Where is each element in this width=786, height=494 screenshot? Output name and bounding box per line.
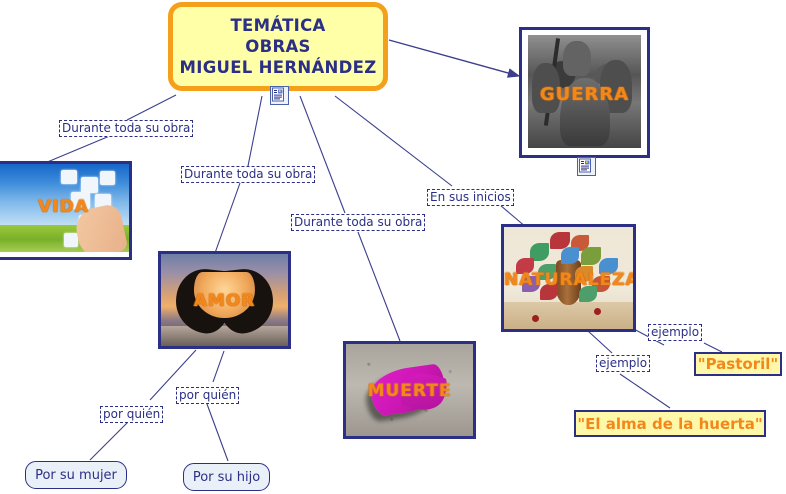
example-box-huerta[interactable]: "El alma de la huerta" — [574, 410, 766, 437]
tree-leaf — [561, 247, 579, 263]
document-note-icon[interactable] — [270, 86, 289, 105]
edge-label-por-quien-mujer[interactable]: por quién — [100, 406, 163, 423]
topic-label-amor: AMOR — [161, 291, 288, 311]
edge-root-guerra — [389, 40, 519, 76]
topic-label-naturaleza: NATURALEZA — [504, 270, 633, 290]
naturaleza-image: NATURALEZA — [504, 227, 633, 329]
fallen-fruit — [594, 308, 601, 315]
vida-bottom-strip — [0, 252, 129, 257]
edge-label-muerte[interactable]: Durante toda su obra — [291, 214, 425, 231]
topic-node-naturaleza[interactable]: NATURALEZA — [501, 224, 636, 332]
example-label-pastoril: "Pastoril" — [698, 355, 778, 373]
edge-root-naturaleza — [335, 96, 452, 186]
topic-node-muerte[interactable]: MUERTE — [343, 341, 476, 439]
edge-huerta-label-node — [620, 374, 670, 408]
root-title-line-3: MIGUEL HERNÁNDEZ — [180, 57, 377, 78]
document-note-glyph — [271, 87, 286, 102]
tree-leaf — [581, 247, 600, 264]
edge-pastoril-label-node — [704, 343, 722, 352]
document-note-icon[interactable] — [577, 157, 596, 176]
root-title-line-2: OBRAS — [180, 36, 377, 57]
topic-label-muerte: MUERTE — [346, 381, 473, 401]
mindmap-canvas: TEMÁTICA OBRAS MIGUEL HERNÁNDEZ — [0, 0, 786, 494]
document-note-glyph — [578, 158, 593, 173]
soldier — [563, 41, 591, 76]
leaf-box-por-su-mujer[interactable]: Por su mujer — [25, 461, 127, 489]
vida-image: VIDA — [0, 164, 129, 257]
edge-vida-label-node — [45, 135, 112, 163]
nat-ground — [504, 302, 633, 329]
edge-root-vida — [127, 95, 176, 120]
leaf-label-por-su-hijo: Por su hijo — [193, 470, 260, 485]
edge-label-guerra[interactable]: En sus inicios — [427, 189, 514, 206]
example-box-pastoril[interactable]: "Pastoril" — [694, 352, 782, 376]
puzzle-piece — [100, 171, 114, 185]
puzzle-piece — [61, 170, 77, 184]
muerte-image: MUERTE — [346, 344, 473, 436]
edge-amor-hijo — [213, 351, 224, 382]
topic-node-amor[interactable]: AMOR — [158, 251, 291, 349]
puzzle-piece — [64, 233, 78, 247]
edge-label-vida[interactable]: Durante toda su obra — [59, 120, 193, 137]
puzzle-piece — [81, 177, 98, 193]
edge-naturaleza-huerta — [588, 331, 612, 353]
topic-node-vida[interactable]: VIDA — [0, 161, 132, 260]
edge-amor-label-node — [215, 183, 240, 253]
root-title-line-1: TEMÁTICA — [180, 15, 377, 36]
edge-mujer-label-node — [90, 422, 128, 460]
topic-label-vida: VIDA — [0, 197, 129, 217]
edge-muerte-label-node — [358, 232, 400, 341]
edge-label-amor[interactable]: Durante toda su obra — [181, 166, 315, 183]
amor-image: AMOR — [161, 254, 288, 346]
guerra-image: GUERRA — [522, 30, 647, 155]
topic-label-guerra: GUERRA — [522, 84, 647, 105]
edge-label-ejemplo-pastoril[interactable]: ejemplo — [648, 324, 702, 341]
leaf-label-por-su-mujer: Por su mujer — [35, 468, 117, 483]
edge-hijo-label-node — [207, 404, 228, 461]
topic-node-guerra[interactable]: GUERRA — [519, 27, 650, 158]
example-label-huerta: "El alma de la huerta" — [577, 415, 762, 433]
edge-root-muerte — [300, 96, 345, 213]
edge-label-por-quien-hijo[interactable]: por quién — [176, 387, 239, 404]
leaf-box-por-su-hijo[interactable]: Por su hijo — [183, 463, 270, 491]
root-node-tematica[interactable]: TEMÁTICA OBRAS MIGUEL HERNÁNDEZ — [168, 2, 388, 91]
root-title: TEMÁTICA OBRAS MIGUEL HERNÁNDEZ — [180, 15, 377, 78]
edge-label-ejemplo-huerta[interactable]: ejemplo — [596, 355, 650, 372]
edge-root-amor — [248, 96, 262, 166]
